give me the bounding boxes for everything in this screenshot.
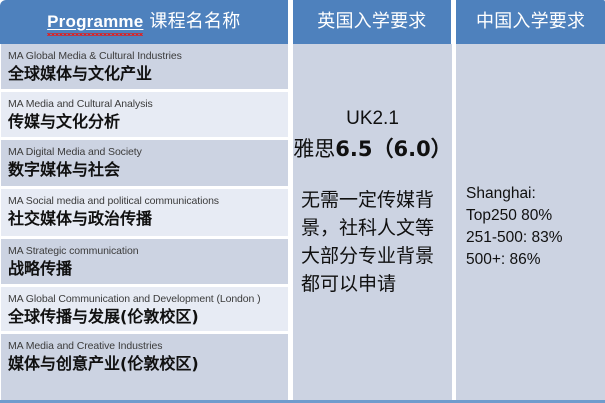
- table-row[interactable]: MA Media and Creative Industries 媒体与创意产业…: [0, 334, 288, 400]
- row-divider: [0, 89, 288, 92]
- row-divider: [0, 186, 288, 189]
- table-row[interactable]: MA Social media and political communicat…: [0, 189, 288, 239]
- programme-name-en: MA Strategic communication: [8, 245, 288, 258]
- row-divider: [0, 137, 288, 140]
- cn-ranking-500plus: 500+: 86%: [466, 249, 597, 271]
- row-divider: [0, 331, 288, 334]
- table-row[interactable]: MA Global Media & Cultural Industries 全球…: [0, 44, 288, 92]
- uk-header-label: 英国入学要求: [317, 13, 426, 31]
- programme-name-en: MA Global Communication and Development …: [8, 293, 288, 306]
- programme-name-en: MA Media and Creative Industries: [8, 340, 288, 353]
- table-row[interactable]: MA Media and Cultural Analysis 传媒与文化分析: [0, 92, 288, 140]
- programme-name-cn: 社交媒体与政治传播: [8, 209, 288, 229]
- table-header-row: Programme课程名名称 英国入学要求 中国入学要求: [0, 0, 605, 44]
- programme-name-en: MA Global Media & Cultural Industries: [8, 50, 288, 63]
- row-divider: [0, 236, 288, 239]
- column-header-programme: Programme课程名名称: [0, 0, 288, 44]
- row-divider: [0, 284, 288, 287]
- uk-ielts-requirement: 雅思6.5（6.0）: [293, 134, 452, 164]
- uk-background-note: 无需一定传媒背景，社科人文等大部分专业背景都可以申请: [293, 186, 452, 298]
- cn-requirements-content: Shanghai: Top250 80% 251-500: 83% 500+: …: [466, 183, 597, 271]
- programme-name-en: MA Social media and political communicat…: [8, 195, 288, 208]
- table-row[interactable]: MA Strategic communication 战略传播: [0, 239, 288, 287]
- uk-degree-requirement: UK2.1: [293, 104, 452, 134]
- cn-requirements-cell: Shanghai: Top250 80% 251-500: 83% 500+: …: [456, 44, 605, 400]
- uk-requirements-cell: UK2.1 雅思6.5（6.0） 无需一定传媒背景，社科人文等大部分专业背景都可…: [293, 44, 452, 400]
- programme-column: MA Global Media & Cultural Industries 全球…: [0, 44, 288, 400]
- uk-requirements-content: UK2.1 雅思6.5（6.0） 无需一定传媒背景，社科人文等大部分专业背景都可…: [293, 104, 452, 298]
- ielts-score: 6.5: [335, 137, 372, 161]
- programme-header-english: Programme: [47, 12, 143, 31]
- programme-name-cn: 数字媒体与社会: [8, 160, 288, 180]
- column-header-programme-text: Programme课程名名称: [47, 13, 240, 31]
- programme-name-cn: 全球传播与发展(伦敦校区): [8, 307, 288, 327]
- requirements-table: Programme课程名名称 英国入学要求 中国入学要求 MA Global M…: [0, 0, 605, 403]
- programme-name-cn: 媒体与创意产业(伦敦校区): [8, 354, 288, 374]
- cn-ranking-source: Shanghai:: [466, 183, 597, 205]
- ielts-label: 雅思: [293, 137, 335, 161]
- ielts-subscore: （6.0）: [373, 137, 452, 161]
- column-header-cn-requirements: 中国入学要求: [456, 0, 605, 44]
- programme-name-cn: 传媒与文化分析: [8, 112, 288, 132]
- table-row[interactable]: MA Global Communication and Development …: [0, 287, 288, 334]
- programme-name-cn: 战略传播: [8, 259, 288, 279]
- table-row[interactable]: MA Digital Media and Society 数字媒体与社会: [0, 140, 288, 189]
- left-edge-line: [0, 44, 1, 400]
- table-body: MA Global Media & Cultural Industries 全球…: [0, 44, 605, 400]
- programme-name-en: MA Media and Cultural Analysis: [8, 98, 288, 111]
- programme-header-chinese: 课程名名称: [149, 11, 240, 32]
- cn-header-label: 中国入学要求: [476, 13, 585, 31]
- programme-name-cn: 全球媒体与文化产业: [8, 64, 288, 84]
- cn-ranking-251-500: 251-500: 83%: [466, 227, 597, 249]
- cn-ranking-top250: Top250 80%: [466, 205, 597, 227]
- column-header-uk-requirements: 英国入学要求: [293, 0, 452, 44]
- programme-name-en: MA Digital Media and Society: [8, 146, 288, 159]
